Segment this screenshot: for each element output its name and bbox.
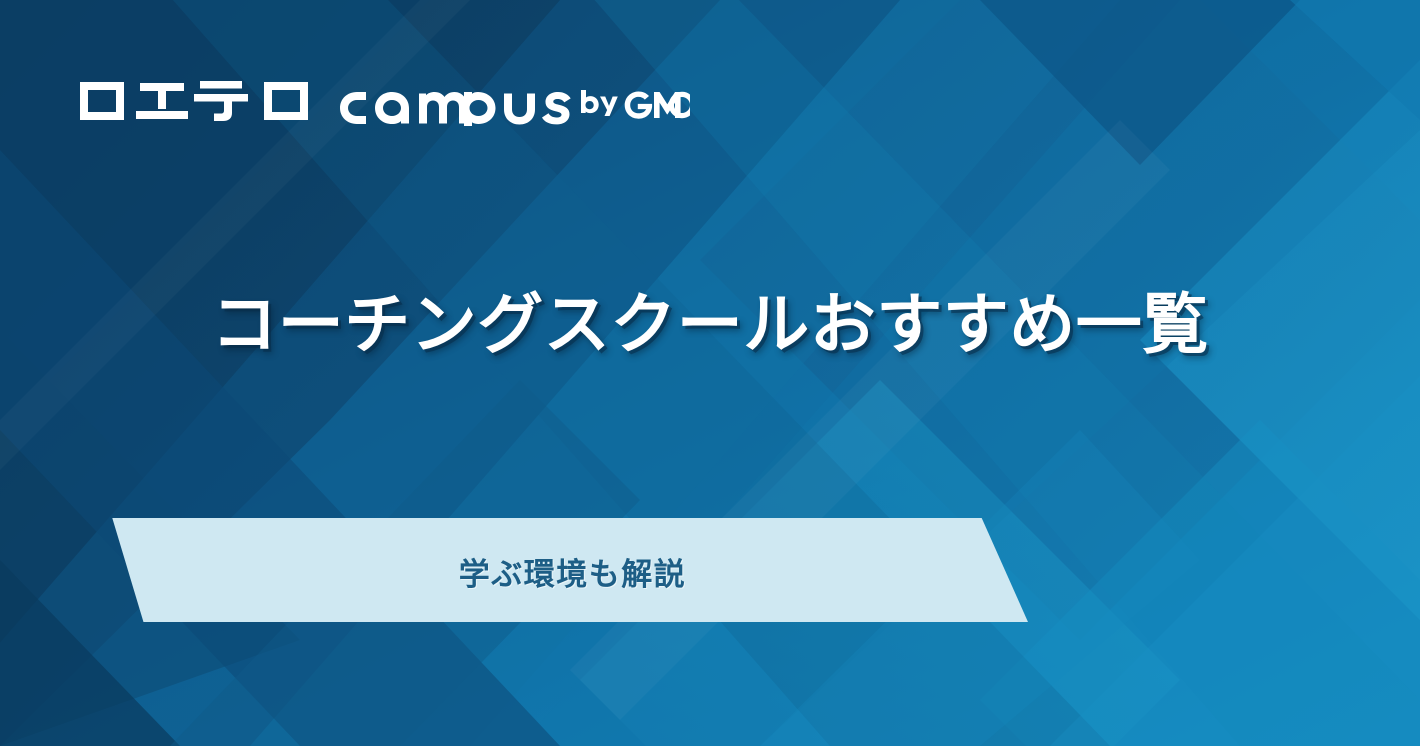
subtitle-text: 学ぶ環境も解説: [100, 512, 1045, 630]
logo-mark: [74, 72, 584, 126]
hero-banner: コーチングスクールおすすめ一覧 学ぶ環境も解説: [0, 0, 1420, 746]
subtitle-banner: 学ぶ環境も解説: [100, 512, 1045, 630]
koeteko-campus-logo[interactable]: [74, 72, 690, 126]
by-gmo-mark: [578, 90, 690, 120]
page-title: コーチングスクールおすすめ一覧: [0, 282, 1420, 366]
